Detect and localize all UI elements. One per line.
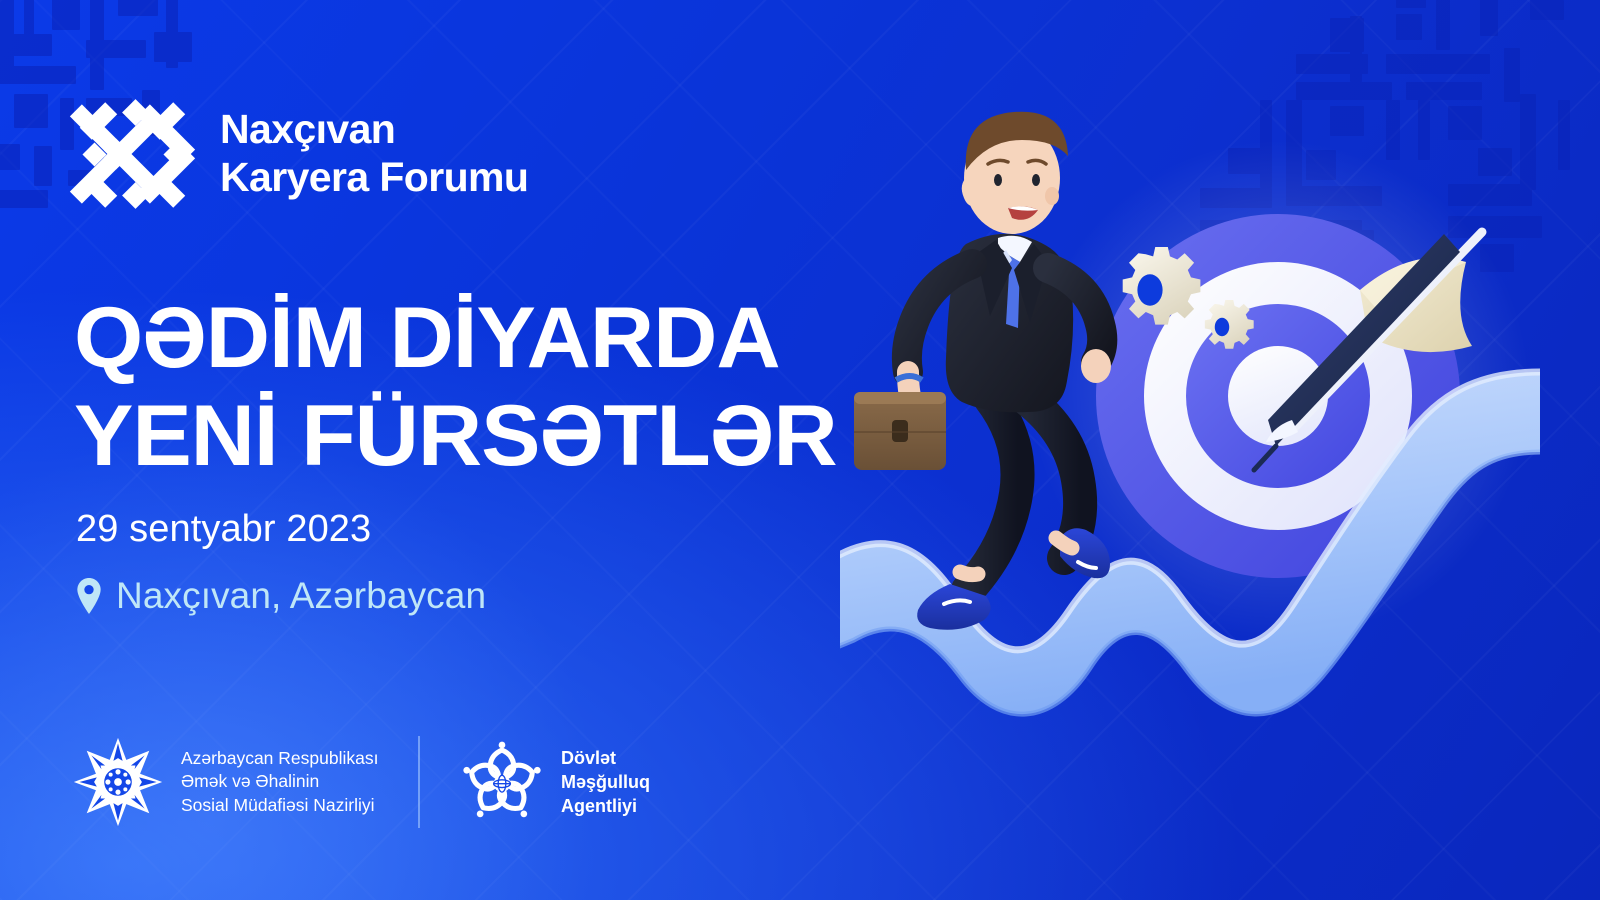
map-pin-icon — [76, 578, 102, 614]
footer-logos: Azərbaycan Respublikası Əmək və Əhalinin… — [72, 736, 650, 828]
agency-name: Dövlət Məşğulluq Agentliyi — [561, 746, 650, 818]
poster-canvas: Naxçıvan Karyera Forumu QƏDİM DİYARDA YE… — [0, 0, 1600, 900]
brand-header: Naxçıvan Karyera Forumu — [76, 95, 528, 213]
event-location-label: Naxçıvan, Azərbaycan — [116, 575, 486, 617]
ministry-line-3: Sosial Müdafiəsi Nazirliyi — [181, 794, 378, 817]
agency-line-3: Agentliyi — [561, 794, 650, 818]
ministry-line-2: Əmək və Əhalinin — [181, 770, 378, 793]
agency-logo: Dövlət Məşğulluq Agentliyi — [460, 740, 650, 824]
hero-illustration — [840, 0, 1600, 900]
head-icon — [962, 112, 1068, 234]
brand-name-line1: Naxçıvan — [220, 107, 528, 153]
footer-divider — [418, 736, 420, 828]
brand-name-line2: Karyera Forumu — [220, 155, 528, 201]
naxcivan-weave-logo-icon — [76, 95, 194, 213]
event-date: 29 sentyabr 2023 — [76, 508, 371, 551]
brand-wordmark: Naxçıvan Karyera Forumu — [220, 107, 528, 201]
headline-line-1: QƏDİM DİYARDA — [74, 296, 837, 380]
eight-pointed-star-emblem-icon — [72, 736, 164, 828]
headline-line-2: YENİ FÜRSƏTLƏR — [74, 394, 837, 478]
ministry-logo: Azərbaycan Respublikası Əmək və Əhalinin… — [72, 736, 378, 828]
circular-knot-globe-emblem-icon — [460, 740, 544, 824]
agency-line-2: Məşğulluq — [561, 770, 650, 794]
event-location: Naxçıvan, Azərbaycan — [76, 575, 486, 617]
ministry-line-1: Azərbaycan Respublikası — [181, 747, 378, 770]
ministry-name: Azərbaycan Respublikası Əmək və Əhalinin… — [181, 747, 378, 817]
agency-line-1: Dövlət — [561, 746, 650, 770]
page-title: QƏDİM DİYARDA YENİ FÜRSƏTLƏR — [74, 296, 811, 479]
